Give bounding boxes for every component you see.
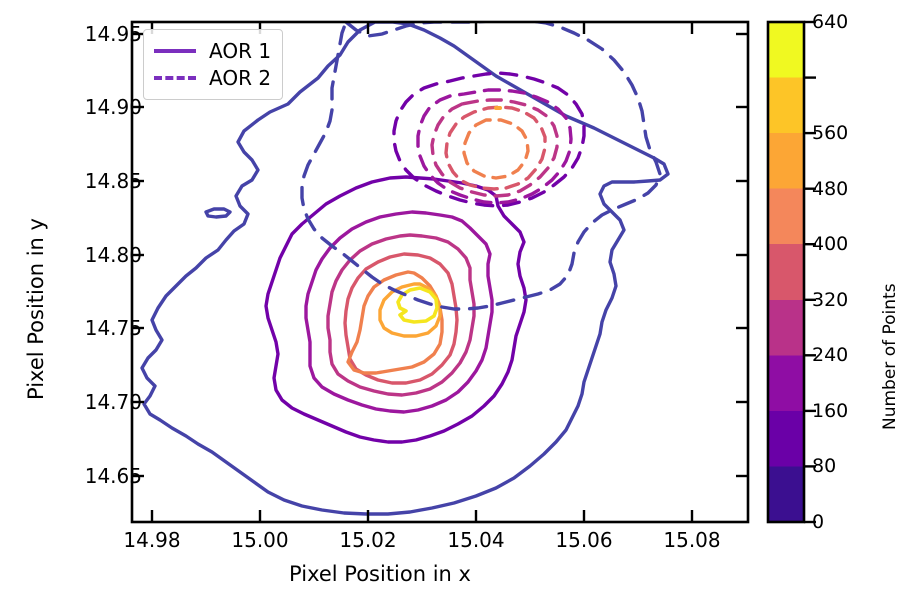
colorbar-ticks — [804, 22, 816, 522]
x-tick-label: 15.02 — [339, 528, 396, 552]
legend-label: AOR 1 — [209, 39, 271, 63]
y-axis-label: Pixel Position in y — [24, 218, 48, 400]
legend-line-dashed-icon — [154, 76, 196, 80]
colorbar-tick-label: 240 — [812, 344, 848, 366]
legend-label: AOR 2 — [209, 66, 271, 90]
legend-line-solid-icon — [154, 49, 196, 53]
contour-aor2-level-160 — [394, 73, 584, 206]
colorbar-tick-label: 160 — [812, 400, 848, 422]
colorbar-tick-label: 480 — [812, 178, 848, 200]
y-tick-label: 14.80 — [85, 243, 142, 267]
colorbar — [768, 22, 804, 522]
colorbar-tick-label: 320 — [812, 289, 848, 311]
x-tick-label: 14.98 — [123, 528, 180, 552]
x-tick-label: 15.00 — [231, 528, 288, 552]
contour-plot-figure: 14.98 15.00 15.02 15.04 15.06 15.08 14.6… — [0, 0, 900, 600]
x-axis-label: Pixel Position in x — [0, 562, 760, 586]
plot-canvas — [0, 0, 900, 600]
x-tick-label: 15.06 — [555, 528, 612, 552]
contour-aor1-level-80-island — [206, 209, 230, 217]
colorbar-tick-label: 0 — [812, 511, 824, 533]
legend[interactable]: AOR 1 AOR 2 — [143, 29, 283, 100]
colorbar-tick-label: 400 — [812, 233, 848, 255]
y-tick-label: 14.90 — [85, 95, 142, 119]
x-tick-label: 15.08 — [663, 528, 720, 552]
legend-item-aor-1[interactable]: AOR 1 — [154, 37, 271, 64]
contour-aor2-level-320 — [432, 100, 557, 196]
y-tick-label: 14.65 — [85, 464, 142, 488]
legend-item-aor-2[interactable]: AOR 2 — [154, 64, 271, 91]
contour-aor2-level-480 — [464, 120, 528, 178]
y-tick-label: 14.70 — [85, 390, 142, 414]
x-tick-label: 15.04 — [447, 528, 504, 552]
y-tick-label: 14.75 — [85, 316, 142, 340]
colorbar-tick-label: 560 — [812, 122, 848, 144]
colorbar-tick-label: 640 — [812, 11, 848, 33]
colorbar-tick-label: 80 — [812, 455, 836, 477]
y-tick-label: 14.95 — [85, 22, 142, 46]
colorbar-axis-label: Number of Points — [880, 283, 900, 430]
y-tick-label: 14.85 — [85, 169, 142, 193]
